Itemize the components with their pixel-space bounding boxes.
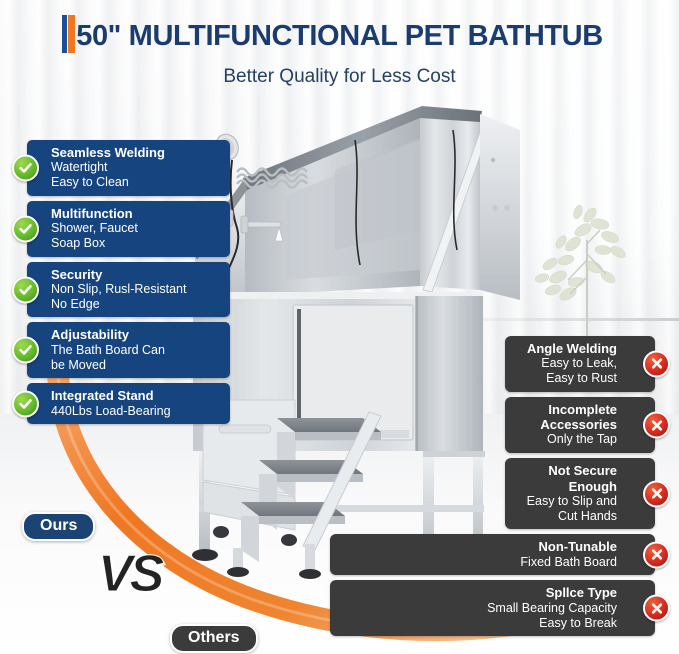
con-box: Incomplete AccessoriesOnly the Tap [505,397,655,453]
con-subtitle: Easy to Break [340,616,617,631]
con-row: Not Secure EnoughEasy to Slip andCut Han… [0,458,679,529]
con-box: Not Secure EnoughEasy to Slip andCut Han… [505,458,655,529]
pro-subtitle: Soap Box [51,236,222,251]
vs-label: VS [98,548,161,600]
con-subtitle: Easy to Slip and [515,494,617,509]
con-row: Incomplete AccessoriesOnly the Tap [0,397,679,453]
x-circle-icon [643,480,670,507]
check-circle-icon [12,390,39,417]
infographic-canvas: 50" MULTIFUNCTIONAL PET BATHTUB Better Q… [0,0,679,654]
pro-subtitle: Watertight [51,160,222,175]
pro-subtitle: Easy to Clean [51,175,222,190]
others-badge: Others [170,624,258,653]
con-box: Spllce TypeSmall Bearing CapacityEasy to… [330,580,655,636]
pro-title: Seamless Welding [51,145,222,160]
con-subtitle: Easy to Rust [515,371,617,386]
accent-bar-blue [62,15,67,53]
con-title: Not Secure Enough [515,463,617,494]
x-circle-icon [643,412,670,439]
con-subtitle: Fixed Bath Board [340,555,617,570]
pro-subtitle: Shower, Faucet [51,221,222,236]
page-title: 50" MULTIFUNCTIONAL PET BATHTUB [76,22,603,51]
check-circle-icon [12,276,39,303]
ours-badge: Ours [22,512,95,541]
con-box: Angle WeldingEasy to Leak,Easy to Rust [505,336,655,392]
check-circle-icon [12,337,39,364]
con-subtitle: Cut Hands [515,509,617,524]
x-circle-icon [643,541,670,568]
pro-box: Seamless WeldingWatertightEasy to Clean [27,140,230,196]
accent-bar-orange [68,15,75,53]
con-title: Incomplete Accessories [515,402,617,433]
check-circle-icon [12,154,39,181]
con-subtitle: Small Bearing Capacity [340,601,617,616]
con-title: Non-Tunable [340,539,617,554]
con-subtitle: Easy to Leak, [515,356,617,371]
decorative-plant [528,182,648,342]
check-circle-icon [12,215,39,242]
pro-box: SecurityNon Slip, Rusl-ResistantNo Edge [27,262,230,318]
pro-row: MultifunctionShower, FaucetSoap Box [0,201,230,257]
page-title-text: 50" MULTIFUNCTIONAL PET BATHTUB [76,20,603,52]
con-box: Non-TunableFixed Bath Board [330,534,655,575]
con-subtitle: Only the Tap [515,432,617,447]
x-circle-icon [643,350,670,377]
con-title: Angle Welding [515,341,617,356]
pro-title: Security [51,267,222,282]
page-subtitle: Better Quality for Less Cost [0,66,679,88]
pro-row: Seamless WeldingWatertightEasy to Clean [0,140,230,196]
title-accent-bars [62,15,75,53]
x-circle-icon [643,595,670,622]
pro-row: SecurityNon Slip, Rusl-ResistantNo Edge [0,262,230,318]
header: 50" MULTIFUNCTIONAL PET BATHTUB [0,22,679,51]
con-row: Angle WeldingEasy to Leak,Easy to Rust [0,336,679,392]
pro-subtitle: Non Slip, Rusl-Resistant [51,282,222,297]
pro-box: MultifunctionShower, FaucetSoap Box [27,201,230,257]
con-title: Spllce Type [340,585,617,600]
pro-title: Multifunction [51,206,222,221]
pro-subtitle: No Edge [51,297,222,312]
